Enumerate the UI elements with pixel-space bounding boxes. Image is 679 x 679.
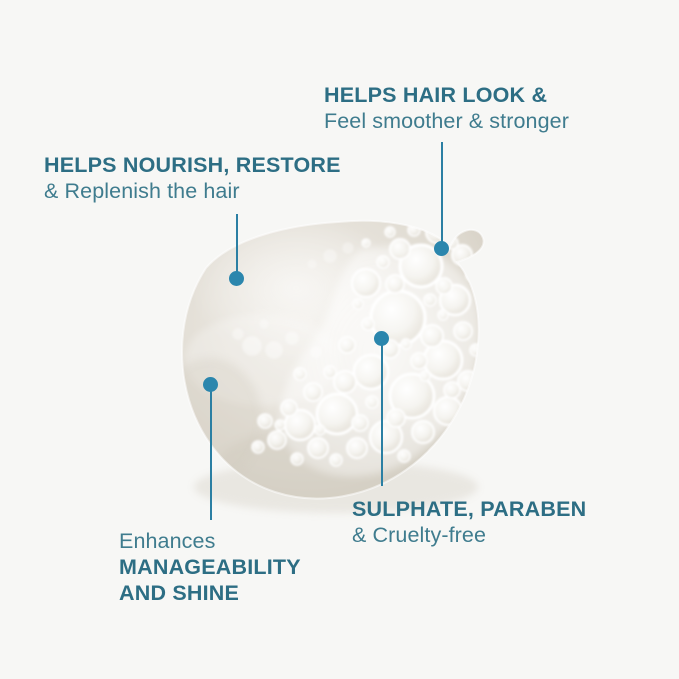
- callout-hair-look-strong: HELPS HAIR LOOK &: [324, 82, 569, 108]
- product-benefits-infographic: HELPS HAIR LOOK & Feel smoother & strong…: [0, 0, 679, 679]
- callout-manageability-shine: Enhances MANAGEABILITY AND SHINE: [119, 528, 301, 607]
- leader-line-manageability: [210, 384, 212, 520]
- callout-nourish-restore: HELPS NOURISH, RESTORE & Replenish the h…: [44, 152, 341, 204]
- anchor-dot-manageability: [203, 377, 218, 392]
- leader-line-sulphate: [381, 338, 383, 486]
- callout-sulphate-light: & Cruelty-free: [352, 522, 586, 548]
- leader-line-nourish: [236, 214, 238, 278]
- anchor-dot-nourish: [229, 271, 244, 286]
- callout-hair-look-light: Feel smoother & stronger: [324, 108, 569, 134]
- callout-sulphate-strong: SULPHATE, PARABEN: [352, 496, 586, 522]
- anchor-dot-sulphate: [374, 331, 389, 346]
- callout-manageability-strong: MANAGEABILITY: [119, 554, 301, 580]
- callout-nourish-light: & Replenish the hair: [44, 178, 341, 204]
- anchor-dot-smoother: [434, 241, 449, 256]
- callout-manageability-light: Enhances: [119, 528, 301, 554]
- leader-line-smoother: [441, 142, 443, 248]
- callout-hair-look: HELPS HAIR LOOK & Feel smoother & strong…: [324, 82, 569, 134]
- callout-sulphate-paraben: SULPHATE, PARABEN & Cruelty-free: [352, 496, 586, 548]
- callout-manageability-strong2: AND SHINE: [119, 580, 301, 606]
- callout-nourish-strong: HELPS NOURISH, RESTORE: [44, 152, 341, 178]
